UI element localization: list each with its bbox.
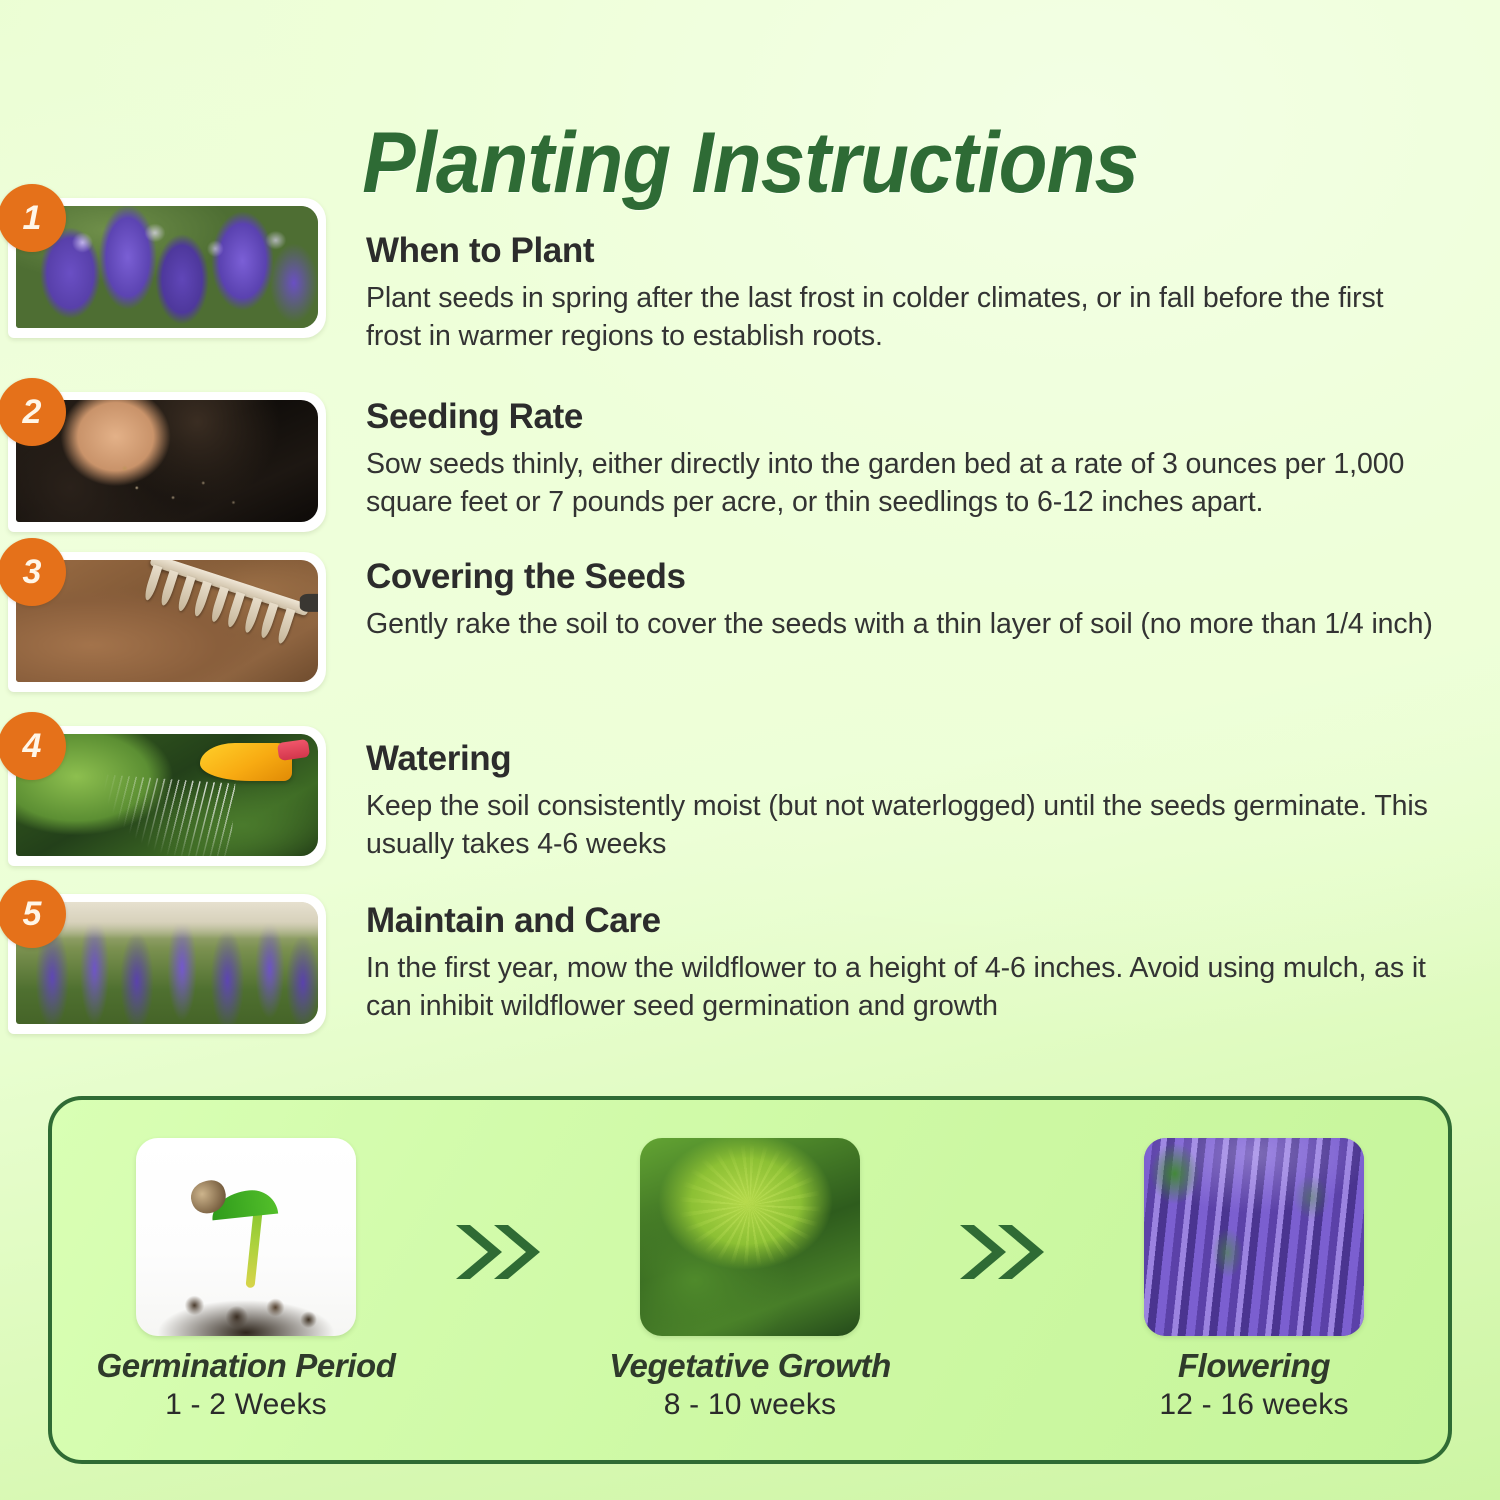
flowering-thumbnail [1144,1138,1364,1336]
step-item: 2 Seeding Rate Sow seeds thinly, either … [0,392,1500,532]
sprout-image-art [136,1138,356,1336]
step-photo-frame: 3 [8,552,326,692]
step-text: When to Plant Plant seeds in spring afte… [330,198,1500,356]
step-body: Sow seeds thinly, either directly into t… [366,445,1440,523]
timeline-stage-flowering: Flowering 12 - 16 weeks [1094,1138,1414,1423]
step-media: 2 [0,392,330,532]
step-number-badge: 3 [0,538,66,606]
step-number-badge: 4 [0,712,66,780]
step-text: Watering Keep the soil consistently mois… [330,726,1500,864]
step-item: 1 When to Plant Plant seeds in spring af… [0,198,1500,356]
growth-timeline-panel: Germination Period 1 - 2 Weeks Vegetativ… [48,1096,1452,1464]
vegetative-thumbnail [640,1138,860,1336]
timeline-stage-label: Germination Period [86,1348,406,1385]
timeline-arrow-2 [910,1219,1094,1341]
step-media: 4 [0,726,330,866]
step-media: 5 [0,894,330,1034]
timeline-stage-label: Flowering [1094,1348,1414,1385]
double-chevron-right-icon [450,1219,546,1285]
flowering-image-art [1144,1138,1364,1336]
steps-list: 1 When to Plant Plant seeds in spring af… [0,198,1500,1034]
step-text: Seeding Rate Sow seeds thinly, either di… [330,392,1500,522]
step-heading: Covering the Seeds [366,558,1440,597]
timeline-stage-duration: 12 - 16 weeks [1094,1388,1414,1422]
step-heading: Watering [366,740,1440,779]
step-media: 3 [0,552,330,692]
germination-thumbnail [136,1138,356,1336]
step-heading: Seeding Rate [366,398,1440,437]
step-photo-frame: 2 [8,392,326,532]
timeline-stage-vegetative: Vegetative Growth 8 - 10 weeks [590,1138,910,1423]
page-title: Planting Instructions [362,120,1138,206]
timeline-arrow-1 [406,1219,590,1341]
double-chevron-right-icon [954,1219,1050,1285]
step-media: 1 [0,198,330,338]
timeline-stage-label: Vegetative Growth [590,1348,910,1385]
step-body: Keep the soil consistently moist (but no… [366,787,1440,865]
step-number-badge: 1 [0,184,66,252]
step-photo-frame: 1 [8,198,326,338]
step-item: 3 [0,552,1500,692]
step-number-badge: 5 [0,880,66,948]
step-item: 5 Maintain and Care In the first year, m… [0,894,1500,1034]
step-text: Covering the Seeds Gently rake the soil … [330,552,1500,643]
step-body: In the first year, mow the wildflower to… [366,949,1440,1027]
step-text: Maintain and Care In the first year, mow… [330,894,1500,1026]
step-number-badge: 2 [0,378,66,446]
vegetative-image-art [640,1138,860,1336]
step-photo-frame: 4 [8,726,326,866]
rake-icon [127,560,318,682]
step-body: Gently rake the soil to cover the seeds … [366,605,1440,644]
infographic-page: Planting Instructions 1 When to Plant Pl… [0,0,1500,1500]
timeline-stage-duration: 8 - 10 weeks [590,1388,910,1422]
timeline-stage-duration: 1 - 2 Weeks [86,1388,406,1422]
watering-can-icon [167,739,306,788]
timeline-stage-germination: Germination Period 1 - 2 Weeks [86,1138,406,1423]
step-body: Plant seeds in spring after the last fro… [366,279,1440,357]
step-heading: When to Plant [366,232,1440,271]
step-photo-frame: 5 [8,894,326,1034]
step-item: 4 Watering Keep the soil consisten [0,726,1500,866]
step-heading: Maintain and Care [366,902,1440,941]
